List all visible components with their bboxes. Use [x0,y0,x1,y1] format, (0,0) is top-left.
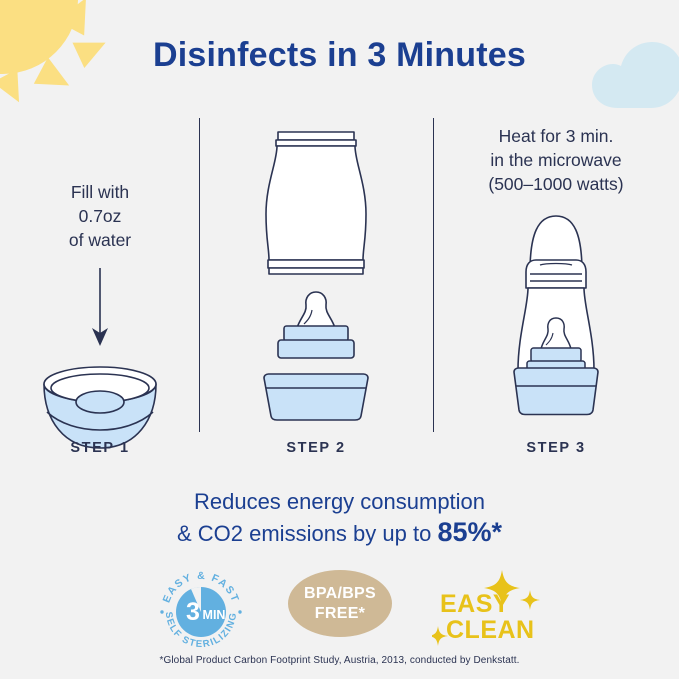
step-1-caption: Fill with 0.7oz of water [10,180,190,252]
step-3-label: STEP 3 [443,440,669,456]
column-divider [433,118,434,432]
eco-claim-line-2: & CO2 emissions by up to 85%* [0,517,679,549]
easy-clean-line-1: EASY [440,590,510,618]
footnote: *Global Product Carbon Footprint Study, … [0,655,679,666]
svg-text:MIN: MIN [203,608,226,622]
step-2-label: STEP 2 [210,440,422,456]
badge-easy-clean: EASY CLEAN [432,568,544,651]
step-1-column: Fill with 0.7oz of water [10,118,190,454]
caption-line: in the microwave [443,148,669,172]
bottle-base-icon [258,372,374,424]
bpa-line-1: BPA/BPS [304,584,376,604]
caption-line: Heat for 3 min. [443,124,669,148]
easy-clean-badge: EASY CLEAN [432,568,544,646]
caption-line: of water [10,228,190,252]
eco-claim-percent: 85% [437,517,491,547]
bpa-oval: BPA/BPS FREE* [288,570,392,637]
badge-row: EASY & FAST SELF STERILIZING 3 MIN BPA/B… [0,566,679,648]
eco-claim-asterisk: * [491,517,502,547]
sparkle-icon [520,590,540,610]
badge-self-sterilizing: EASY & FAST SELF STERILIZING 3 MIN [155,566,247,653]
caption-line: Fill with [10,180,190,204]
step-3-caption: Heat for 3 min. in the microwave (500–10… [443,124,669,196]
timer-badge-icon: EASY & FAST SELF STERILIZING 3 MIN [155,566,247,648]
nipple-collar-icon [260,288,372,362]
assembled-sterilizer-icon [500,210,612,458]
page-title: Disinfects in 3 Minutes [0,36,679,75]
step-3-column: Heat for 3 min. in the microwave (500–10… [443,118,669,458]
step-2-column [210,118,422,424]
easy-clean-line-2: CLEAN [446,616,535,644]
step-1-label: STEP 1 [10,440,190,456]
eco-claim-prefix: & CO2 emissions by up to [177,521,437,546]
infographic-page: Disinfects in 3 Minutes Fill with 0.7oz … [0,0,679,679]
badge-bpa-bps-free: BPA/BPS FREE* [288,570,392,637]
sun-ray [0,69,31,109]
eco-claim: Reduces energy consumption & CO2 emissio… [0,486,679,549]
bpa-line-2: FREE* [315,604,365,624]
column-divider [199,118,200,432]
down-arrow-icon [80,266,120,350]
eco-claim-line-1: Reduces energy consumption [0,486,679,517]
svg-text:3: 3 [186,598,200,626]
caption-line: 0.7oz [10,204,190,228]
caption-line: (500–1000 watts) [443,172,669,196]
bottle-body-icon [256,122,376,282]
